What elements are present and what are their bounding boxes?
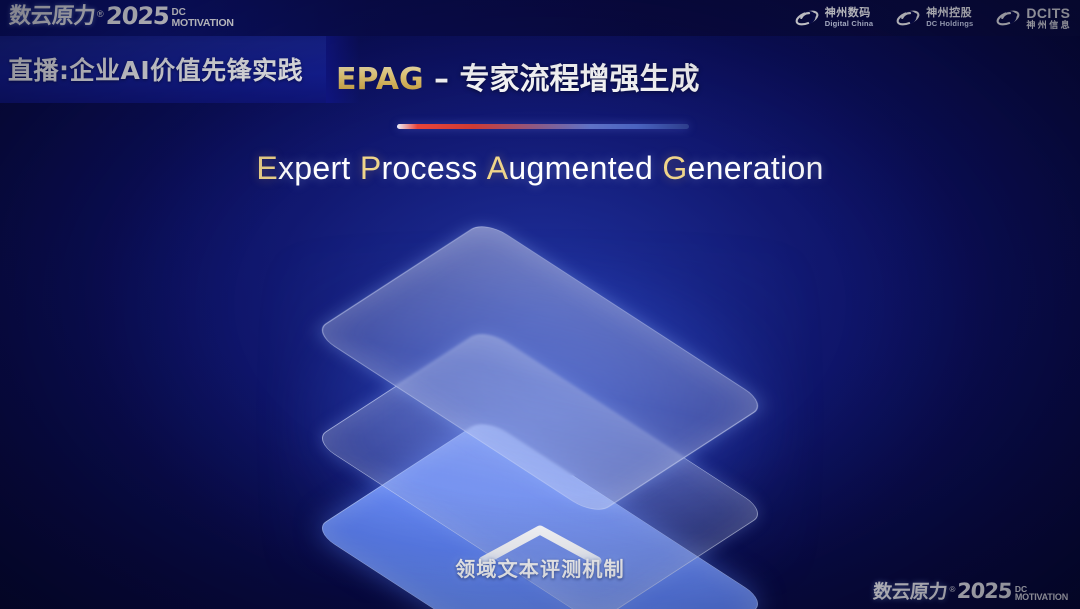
subtitle-rest-generation: eneration [688, 150, 824, 186]
subtitle-cap-e: E [256, 150, 278, 186]
brand-registered-mark: ® [97, 10, 104, 19]
stack-label-top: 领域文本评测机制 [455, 553, 625, 582]
partner-name-en: 神州信息 [1026, 21, 1072, 30]
subtitle-space-2 [478, 150, 487, 186]
brand-year: 2025 [105, 4, 169, 28]
layered-stack-diagram: 领域文本评测机制 Dynamic MOE 长文本记忆 三类语义建模模块 [290, 225, 790, 570]
subtitle-rest-expert: xpert [278, 150, 351, 186]
partner-name-en: DC Holdings [926, 20, 973, 28]
brand-dc-label: DC [171, 8, 233, 18]
watermark-dc-motivation: DC MOTIVATION [1015, 585, 1068, 603]
subtitle-cap-g: G [662, 150, 687, 186]
gradient-divider [397, 124, 689, 129]
headline-chinese: 专家流程增强生成 [459, 62, 699, 97]
partner-logo-text: DCITS 神州信息 [1026, 6, 1072, 30]
headline-separator: – [424, 62, 460, 97]
swirl-icon [895, 5, 921, 31]
bottom-watermark-logo: 数云原力 ® 2025 DC MOTIVATION [873, 581, 1068, 602]
english-subtitle: Expert Process Augmented Generation [0, 150, 1080, 187]
partner-name-cn: DCITS [1026, 6, 1072, 21]
partner-logo-text: 神州控股 DC Holdings [926, 8, 973, 27]
subtitle-rest-augmented: ugmented [508, 150, 653, 186]
slide-headline: EPAG – 专家流程增强生成 [336, 54, 699, 98]
brand-dc-motivation: DC MOTIVATION [171, 8, 233, 29]
swirl-icon [794, 5, 820, 31]
watermark-motivation-label: MOTIVATION [1015, 593, 1068, 602]
watermark-registered-mark: ® [949, 586, 955, 594]
partner-logo-digital-china: 神州数码 Digital China [794, 5, 873, 31]
subtitle-rest-process: rocess [381, 150, 477, 186]
subtitle-space-3 [653, 150, 662, 186]
subtitle-space-1 [351, 150, 360, 186]
watermark-name-cn: 数云原力 [873, 583, 948, 602]
subtitle-cap-p: P [360, 150, 382, 186]
watermark-year: 2025 [957, 581, 1013, 602]
partner-logo-group: 神州数码 Digital China 神州控股 DC Holdings [794, 3, 1072, 33]
swirl-icon [995, 5, 1021, 31]
brand-motivation-label: MOTIVATION [171, 18, 233, 29]
partner-logo-dcits: DCITS 神州信息 [995, 5, 1072, 31]
partner-logo-dc-holdings: 神州控股 DC Holdings [895, 5, 973, 31]
headline-acronym: EPAG [336, 62, 424, 97]
partner-logo-text: 神州数码 Digital China [825, 8, 873, 27]
brand-logo: 数云原力 ® 2025 DC MOTIVATION [9, 4, 234, 28]
subtitle-cap-a: A [487, 150, 509, 186]
live-broadcast-title: 直播:企业AI价值先锋实践 [8, 51, 303, 87]
partner-name-en: Digital China [825, 20, 873, 28]
presentation-slide: 数云原力 ® 2025 DC MOTIVATION 直播:企业AI价值先锋实践 [0, 0, 1080, 609]
brand-name-cn: 数云原力 [8, 6, 96, 28]
